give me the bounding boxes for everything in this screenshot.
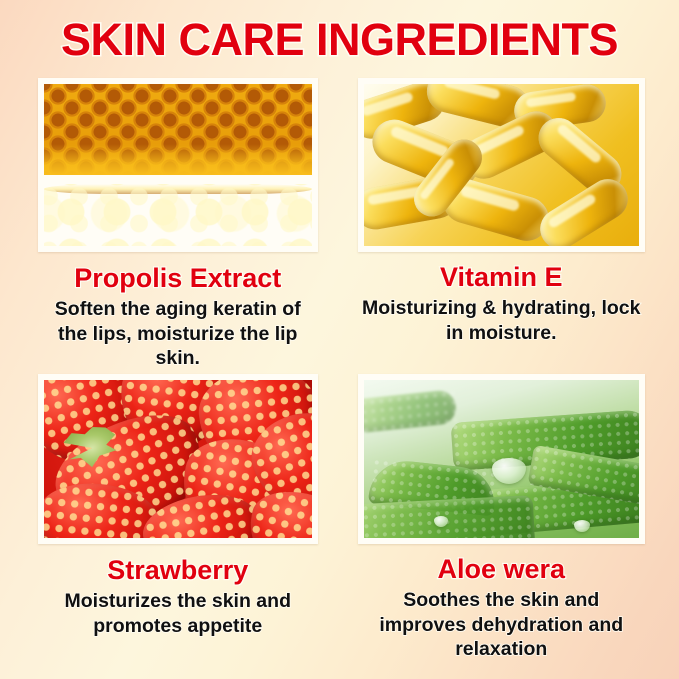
ingredient-heading-propolis: Propolis Extract	[74, 264, 281, 292]
ingredient-heading-vitamin-e: Vitamin E	[440, 263, 563, 291]
photo-frame-vitamin-e	[358, 78, 646, 252]
ingredient-card-propolis: Propolis Extract Soften the aging kerati…	[0, 78, 340, 374]
photo-frame-propolis	[38, 78, 318, 252]
honeycomb-cells-icon	[44, 84, 312, 175]
honeycomb-image	[44, 84, 312, 246]
photo-frame-strawberry	[38, 374, 318, 544]
ingredient-description-propolis: Soften the aging keratin of the lips, mo…	[49, 297, 307, 370]
capsule-cluster-icon	[364, 84, 640, 246]
ingredient-heading-strawberry: Strawberry	[107, 556, 248, 584]
aloe-vera-image	[364, 380, 640, 538]
strawberry-image	[44, 380, 312, 538]
ingredient-card-aloe-vera: Aloe wera Soothes the skin and improves …	[340, 374, 679, 674]
ingredient-card-strawberry: Strawberry Moisturizes the skin and prom…	[0, 374, 340, 674]
photo-frame-aloe-vera	[358, 374, 646, 544]
ingredient-heading-aloe-vera: Aloe wera	[437, 555, 565, 583]
skin-care-ingredients-poster: SKIN CARE INGREDIENTS Propolis Extract S…	[0, 0, 679, 679]
ingredient-description-aloe-vera: Soothes the skin and improves dehydratio…	[358, 588, 646, 661]
ingredient-card-vitamin-e: Vitamin E Moisturizing & hydrating, lock…	[340, 78, 679, 374]
vitamin-e-capsules-image	[364, 84, 640, 246]
honey-bubbles-icon	[44, 184, 312, 246]
ingredient-description-vitamin-e: Moisturizing & hydrating, lock in moistu…	[358, 296, 646, 344]
ingredient-description-strawberry: Moisturizes the skin and promotes appeti…	[38, 589, 318, 637]
page-title: SKIN CARE INGREDIENTS	[0, 14, 679, 66]
ingredient-grid: Propolis Extract Soften the aging kerati…	[0, 78, 679, 679]
